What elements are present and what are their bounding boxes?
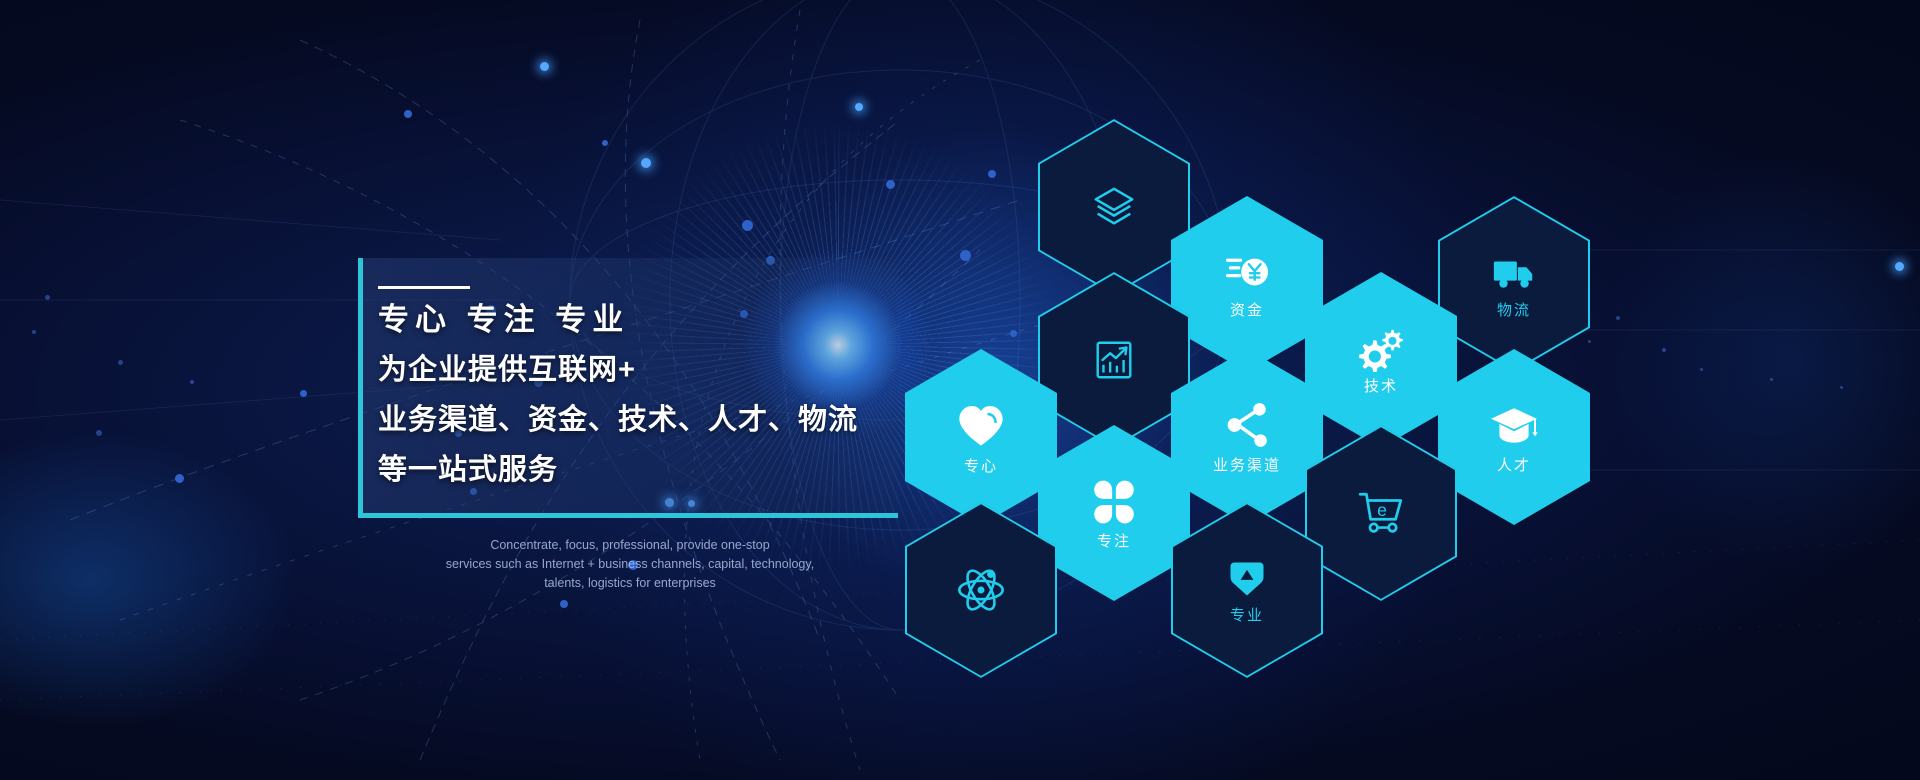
share-icon <box>1222 401 1272 451</box>
headline-line-3: 业务渠道、资金、技术、人才、物流 <box>378 395 898 445</box>
hexagon-label: 专心 <box>964 459 998 474</box>
subtitle-line-1: Concentrate, focus, professional, provid… <box>330 536 930 555</box>
banner-root: 资金 物流 <box>0 0 1920 780</box>
diamond-icon <box>1225 557 1269 601</box>
hexagon-tech[interactable]: 技术 <box>1305 272 1457 448</box>
layers-icon <box>1091 184 1137 230</box>
subtitle-block: Concentrate, focus, professional, provid… <box>330 536 930 593</box>
hexagon-label: 人才 <box>1497 458 1531 473</box>
hexagon-chart[interactable] <box>1038 272 1190 448</box>
hexagon-label: 专注 <box>1097 534 1131 549</box>
hexagon-capital[interactable]: 资金 <box>1171 196 1323 372</box>
subtitle-line-2: services such as Internet + business cha… <box>330 555 930 574</box>
hexagon-logistics[interactable]: 物流 <box>1438 196 1590 372</box>
title-rule <box>378 286 470 289</box>
money-yen-icon <box>1224 250 1270 296</box>
hexagon-label: 物流 <box>1497 303 1531 318</box>
graduation-cap-icon <box>1489 401 1539 451</box>
hexagon-professional[interactable]: 专业 <box>1171 502 1323 678</box>
shopping-cart-e-icon: e <box>1356 488 1406 538</box>
chart-report-icon <box>1091 337 1137 383</box>
headline-line-1: 专心 专注 专业 <box>378 295 898 345</box>
hexagon-devotion[interactable]: 专注 <box>1038 425 1190 601</box>
clover-icon <box>1089 477 1139 527</box>
hexagon-ecommerce[interactable]: e <box>1305 425 1457 601</box>
hexagon-label: 资金 <box>1230 303 1264 318</box>
hexagon-label: 技术 <box>1364 379 1398 394</box>
headline-line-4: 等一站式服务 <box>378 445 898 495</box>
subtitle-line-3: talents, logistics for enterprises <box>330 574 930 593</box>
atom-icon <box>955 564 1007 616</box>
headline-line-2: 为企业提供互联网+ <box>378 345 898 395</box>
hexagon-channels[interactable]: 业务渠道 <box>1171 349 1323 525</box>
hexagon-grid: 资金 物流 <box>0 0 1920 780</box>
gears-icon <box>1358 326 1404 372</box>
truck-icon <box>1491 250 1537 296</box>
hexagon-label: 业务渠道 <box>1213 458 1281 473</box>
svg-text:e: e <box>1377 500 1387 520</box>
hexagon-talent[interactable]: 人才 <box>1438 349 1590 525</box>
hexagon-layers[interactable] <box>1038 119 1190 295</box>
heart-icon <box>955 400 1007 452</box>
hexagon-focus[interactable]: 专心 <box>905 349 1057 525</box>
hexagon-label: 专业 <box>1230 608 1264 623</box>
headline-block: 专心 专注 专业 为企业提供互联网+ 业务渠道、资金、技术、人才、物流 等一站式… <box>378 295 898 495</box>
